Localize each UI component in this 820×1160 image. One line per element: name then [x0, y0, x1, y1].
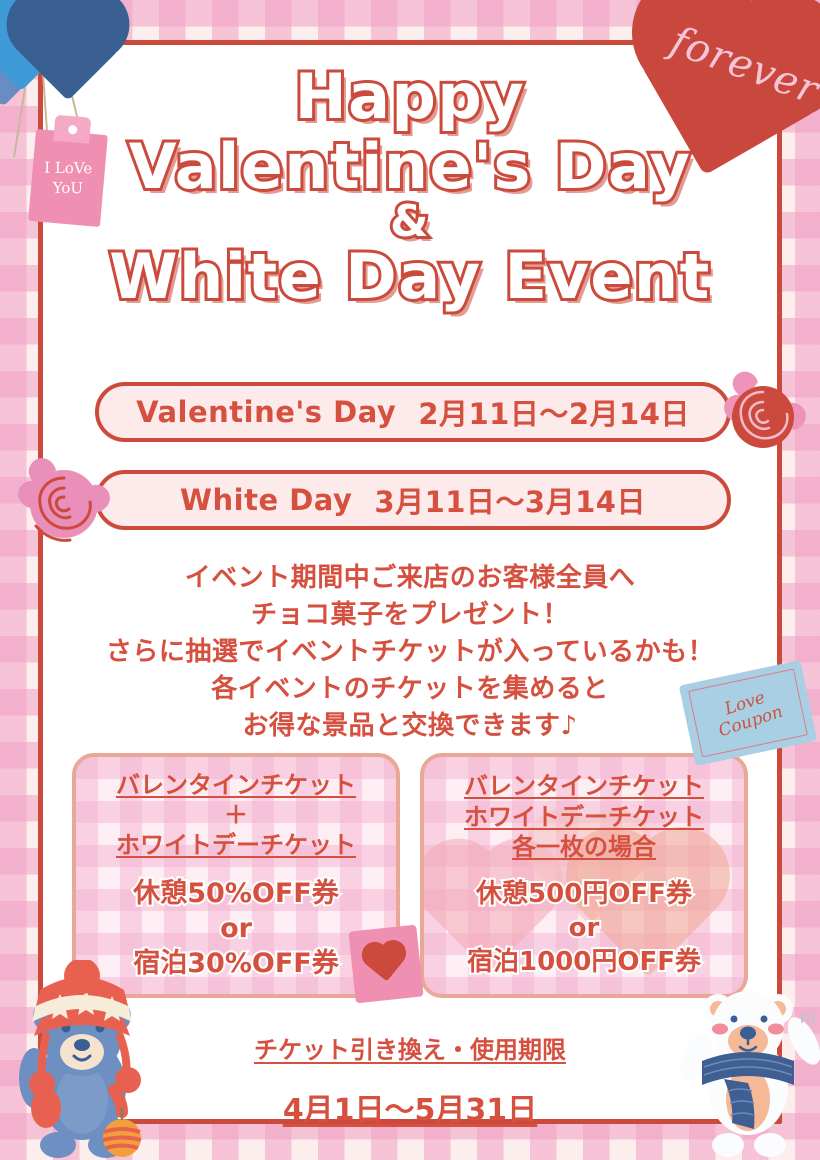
benefit-right-reward-2: 宿泊1000円OFF券	[467, 946, 701, 980]
body-copy-line: チョコ菓子をプレゼント！	[0, 597, 820, 634]
benefit-left-condition-1: バレンタインチケット	[116, 770, 356, 800]
date-banner-valentine: Valentine's Day 2月11日～2月14日	[95, 382, 731, 442]
benefit-box-right: バレンタインチケット ホワイトデーチケット 各一枚の場合 休憩500円OFF券 …	[420, 753, 748, 998]
body-copy-line: イベント期間中ご来店のお客様全員へ	[0, 560, 820, 597]
benefit-right-condition-3: 各一枚の場合	[512, 832, 656, 862]
benefit-right-condition-2: ホワイトデーチケット	[464, 802, 704, 832]
date-banner-white-day-label: White Day	[180, 483, 352, 517]
benefit-right-reward-or: or	[569, 912, 600, 946]
heart-balloons-with-tag: I LoVe YoU	[0, 0, 156, 242]
forever-heart-icon: forever	[640, 0, 820, 162]
benefit-right-reward-1: 休憩500円OFF券	[476, 878, 692, 912]
tag-line-1: I LoVe	[44, 157, 92, 178]
date-banner-white-day: White Day 3月11日～3月14日	[95, 470, 731, 530]
date-banner-valentine-period: 2月11日～2月14日	[418, 391, 690, 433]
balloon-heart-icon	[32, 14, 104, 86]
body-copy-line: さらに抽選でイベントチケットが入っているかも！	[0, 634, 820, 671]
tag-line-2: YoU	[53, 178, 84, 199]
date-banner-valentine-label: Valentine's Day	[136, 395, 396, 429]
benefit-right-condition-1: バレンタインチケット	[464, 771, 704, 801]
benefit-left-condition-2: ＋	[224, 800, 248, 830]
heart-stamp-icon	[348, 925, 423, 1004]
white-bear-illustration	[676, 975, 820, 1160]
rose-icon-right	[714, 368, 812, 466]
date-banner-white-day-period: 3月11日～3月14日	[374, 479, 646, 521]
valentine-white-day-poster: Happy Valentine's Day & White Day Event …	[0, 0, 820, 1160]
benefit-left-condition-3: ホワイトデーチケット	[116, 830, 356, 860]
i-love-you-tag: I LoVe YoU	[28, 129, 108, 227]
benefit-left-reward-or: or	[220, 911, 252, 946]
rose-icon-left	[12, 452, 116, 556]
benefit-left-reward-1: 休憩50%OFF券	[133, 876, 338, 911]
blue-bear-illustration	[0, 960, 168, 1160]
